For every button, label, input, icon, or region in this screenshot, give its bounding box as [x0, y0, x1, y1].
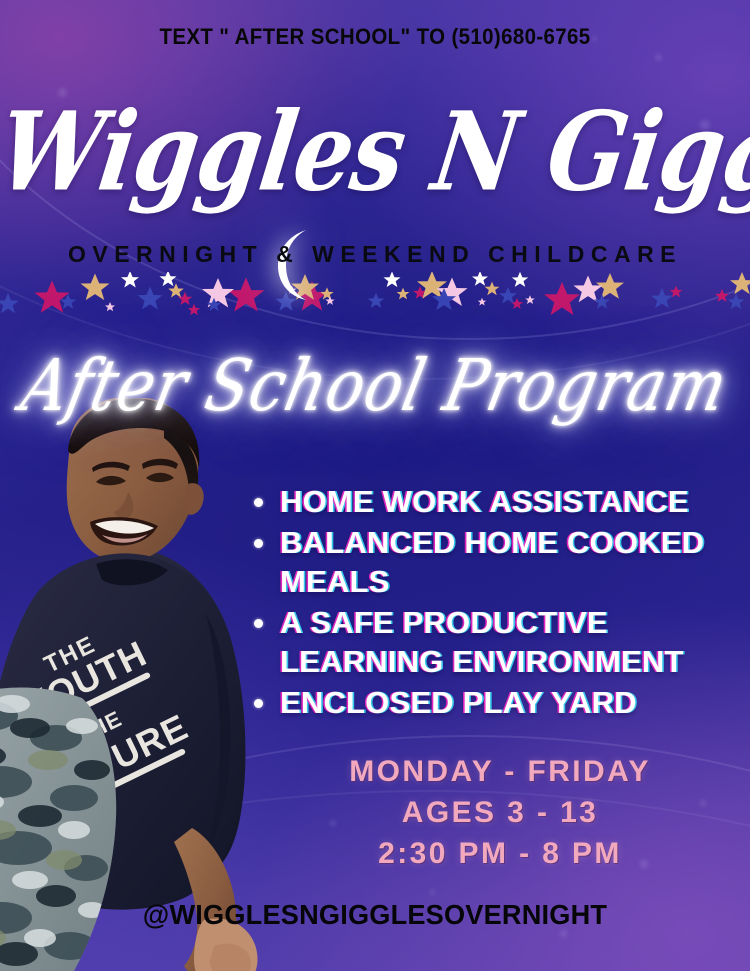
tagline: OVERNIGHT & WEEKEND CHILDCARE — [0, 241, 750, 268]
schedule-block: MONDAY - FRIDAY AGES 3 - 13 2:30 PM - 8 … — [250, 752, 750, 874]
program-title: After School Program — [0, 347, 750, 425]
tagline-left: OVERNIGHT — [68, 241, 263, 267]
flyer-canvas: TEXT " AFTER SCHOOL" TO (510)680-6765 Wi… — [0, 0, 750, 971]
tagline-right: WEEKEND CHILDCARE — [312, 241, 682, 267]
list-item: BALANCED HOME COOKED MEALS — [248, 523, 748, 601]
social-handle: @WIGGLESNGIGGLESOVERNIGHT — [11, 899, 739, 931]
feature-list: HOME WORK ASSISTANCE BALANCED HOME COOKE… — [248, 482, 748, 724]
tagline-ampersand: & — [276, 241, 299, 267]
bokeh-dot — [430, 890, 435, 895]
bokeh-dot — [655, 54, 662, 61]
top-contact-text: TEXT " AFTER SCHOOL" TO (510)680-6765 — [26, 24, 724, 50]
schedule-ages: AGES 3 - 13 — [250, 793, 750, 834]
brand-headline: Wiggles N Giggles — [0, 95, 750, 209]
bokeh-dot — [560, 930, 567, 937]
list-item: A SAFE PRODUCTIVE LEARNING ENVIRONMENT — [248, 603, 748, 681]
list-item: ENCLOSED PLAY YARD — [248, 683, 748, 722]
list-item: HOME WORK ASSISTANCE — [248, 482, 748, 521]
star-band-icon — [0, 272, 750, 324]
schedule-hours: 2:30 PM - 8 PM — [250, 834, 750, 875]
schedule-days: MONDAY - FRIDAY — [250, 752, 750, 793]
